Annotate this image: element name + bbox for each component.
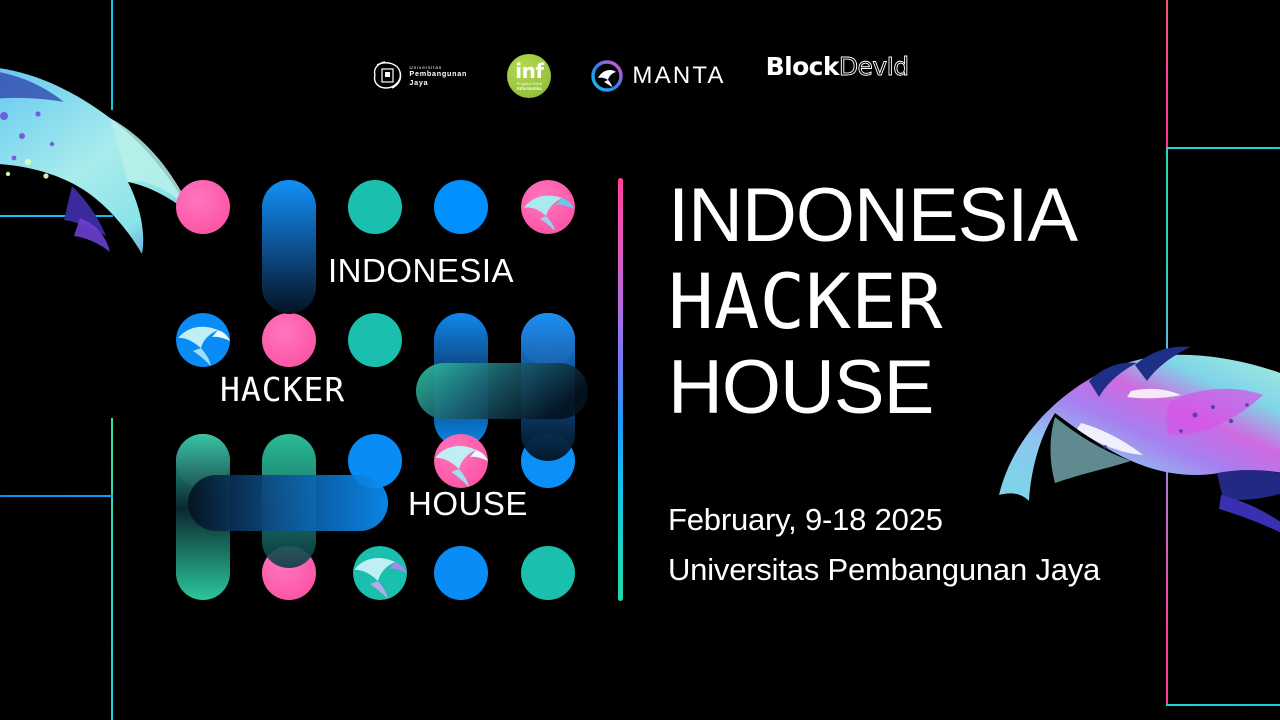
manta-wordmark: MANTA: [632, 62, 725, 90]
logo-mark-label-hacker: HACKER: [220, 370, 345, 409]
upj-emblem-icon: [371, 59, 405, 93]
blockdevid-bold-part: Block: [766, 52, 839, 81]
upj-line2: Pembangunan Jaya: [409, 70, 471, 87]
event-details-block: February, 9-18 2025 Universitas Pembangu…: [668, 502, 1100, 588]
inf-wordmark: inf: [515, 62, 543, 80]
headline-line-hacker: HACKER: [668, 262, 1188, 342]
frame-line-bottom-right-horizontal: [1166, 704, 1280, 706]
logo-mark-label-house: HOUSE: [408, 485, 528, 523]
manta-ray-circle-icon: [591, 60, 623, 92]
hacker-house-logo-mark: INDONESIA HACKER HOUSE: [176, 180, 596, 600]
sponsor-manta[interactable]: MANTA: [591, 52, 725, 100]
sponsor-universitas-pembangunan-jaya[interactable]: Universitas Pembangunan Jaya: [371, 52, 471, 100]
frame-line-top-right-horizontal: [1166, 147, 1280, 149]
frame-line-bottom-left-vertical: [111, 418, 113, 720]
poster-canvas: Universitas Pembangunan Jaya inf Program…: [0, 0, 1280, 720]
event-venue: Universitas Pembangunan Jaya: [668, 552, 1100, 588]
frame-line-bottom-left-horizontal: [0, 495, 113, 497]
sponsor-logo-row: Universitas Pembangunan Jaya inf Program…: [0, 52, 1280, 100]
logo-mark-label-indonesia: INDONESIA: [328, 252, 514, 290]
event-date: February, 9-18 2025: [668, 502, 1100, 538]
headline-block: INDONESIA HACKER HOUSE: [668, 176, 1188, 427]
headline-line-house: HOUSE: [668, 348, 1188, 428]
sponsor-informatika[interactable]: inf Program Studi Informatika: [507, 54, 551, 98]
sponsor-blockdevid[interactable]: Block DevId: [766, 52, 909, 100]
gradient-divider: [618, 178, 623, 601]
blockdevid-outline-part: DevId: [839, 52, 909, 81]
headline-line-indonesia: INDONESIA: [668, 176, 1188, 256]
inf-subtitle-2: Informatika: [517, 86, 542, 91]
